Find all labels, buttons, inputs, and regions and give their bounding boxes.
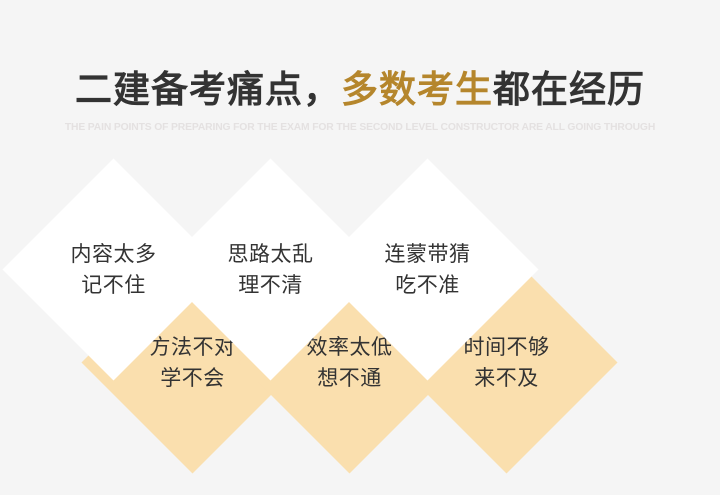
diamond-label-line-1: 内容太多 <box>71 239 157 270</box>
diamond-label-line-2: 来不及 <box>464 363 550 394</box>
diamond-label-line-2: 理不清 <box>228 270 314 301</box>
page-title: 二建备考痛点，多数考生都在经历 <box>0 66 720 114</box>
diamond-label-line-2: 学不会 <box>150 363 236 394</box>
diamond-label: 连蒙带猜 吃不准 <box>385 239 471 301</box>
page-title-part-1: 二建备考痛点， <box>75 69 341 110</box>
page-title-accent: 多数考生 <box>341 69 493 110</box>
diamond-label: 思路太乱 理不清 <box>228 239 314 301</box>
diamond-label: 内容太多 记不住 <box>71 239 157 301</box>
diamond-label-line-1: 效率太低 <box>307 332 393 363</box>
diamond-label-line-2: 想不通 <box>307 363 393 394</box>
diamond-label-line-1: 时间不够 <box>464 332 550 363</box>
diamond-label: 时间不够 来不及 <box>464 332 550 394</box>
diamond-label: 方法不对 学不会 <box>150 332 236 394</box>
diamond-label: 效率太低 想不通 <box>307 332 393 394</box>
page-subtitle: THE PAIN POINTS OF PREPARING FOR THE EXA… <box>5 120 714 134</box>
diamond-label-line-1: 思路太乱 <box>228 239 314 270</box>
page-title-part-2: 都在经历 <box>493 69 645 110</box>
heading-block: 二建备考痛点，多数考生都在经历 THE PAIN POINTS OF PREPA… <box>0 66 720 134</box>
diamond-label-line-2: 吃不准 <box>385 270 471 301</box>
diamond-label-line-2: 记不住 <box>71 270 157 301</box>
diamond-label-line-1: 连蒙带猜 <box>385 239 471 270</box>
diamond-grid: 内容太多 记不住 思路太乱 理不清 连蒙带猜 吃不准 方法不对 学不会 <box>0 180 720 460</box>
diamond-label-line-1: 方法不对 <box>150 332 236 363</box>
banner-page: 二建备考痛点，多数考生都在经历 THE PAIN POINTS OF PREPA… <box>0 0 720 495</box>
